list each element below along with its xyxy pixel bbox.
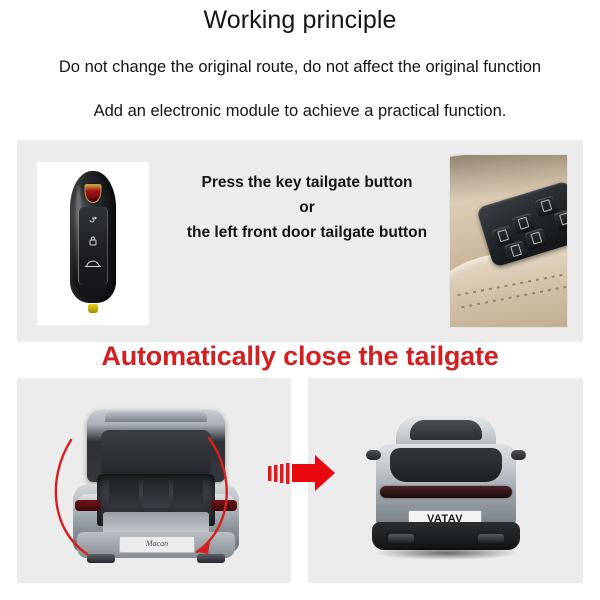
- tailgate-lid: [87, 410, 225, 482]
- subtitle-line-2: Add an electronic module to achieve a pr…: [0, 102, 600, 121]
- tailgate-icon: [83, 259, 103, 271]
- sunroof: [410, 420, 482, 440]
- tailgate-closed-panel: VATAV: [308, 378, 583, 583]
- tailgate-open-panel: Macan: [17, 378, 291, 583]
- tailgate-switch: [553, 209, 567, 230]
- page-title: Working principle: [0, 6, 600, 35]
- rear-window: [101, 430, 211, 476]
- instruction-line-2: or: [157, 195, 457, 220]
- fob-button-face: [78, 207, 108, 285]
- headline-text: Automatically close the tailgate: [0, 341, 600, 372]
- instruction-line-1: Press the key tailgate button: [157, 170, 457, 195]
- window-switch: [524, 228, 547, 249]
- lock-icon: [83, 235, 103, 247]
- fob-key-tip: [88, 304, 98, 313]
- key-fob-image: [37, 162, 149, 325]
- tail-light-bar: [380, 486, 512, 498]
- side-mirror: [366, 450, 381, 460]
- unlock-icon: [83, 213, 103, 225]
- exhaust-tip: [478, 534, 504, 543]
- exhaust-tip: [87, 554, 115, 563]
- exhaust-tip: [388, 534, 414, 543]
- exhaust-tip: [197, 554, 225, 563]
- window-switch: [504, 240, 527, 261]
- rear-window: [390, 448, 502, 482]
- door-panel-image: [450, 155, 567, 327]
- rear-seat: [143, 478, 169, 508]
- side-mirror: [511, 450, 526, 460]
- rear-seat: [173, 478, 203, 508]
- transition-arrow-icon: [268, 452, 342, 494]
- key-fob-illustration: [66, 171, 120, 313]
- car-tailgate-open: Macan: [63, 408, 249, 568]
- tail-light: [211, 500, 237, 511]
- subtitle-line-1: Do not change the original route, do not…: [0, 58, 600, 77]
- car-tailgate-closed: VATAV: [356, 410, 536, 566]
- car-closed-stage: VATAV: [308, 378, 583, 583]
- instruction-text: Press the key tailgate button or the lef…: [157, 170, 457, 245]
- instruction-panel: Press the key tailgate button or the lef…: [17, 140, 583, 342]
- rear-seat: [109, 478, 139, 508]
- tail-light: [75, 500, 101, 511]
- car-open-stage: Macan: [17, 378, 291, 583]
- roof-spoiler: [105, 412, 207, 422]
- car-shadow: [374, 546, 520, 560]
- instruction-line-3: the left front door tailgate button: [157, 220, 457, 245]
- license-plate: Macan: [119, 536, 195, 553]
- cargo-floor: [103, 512, 209, 534]
